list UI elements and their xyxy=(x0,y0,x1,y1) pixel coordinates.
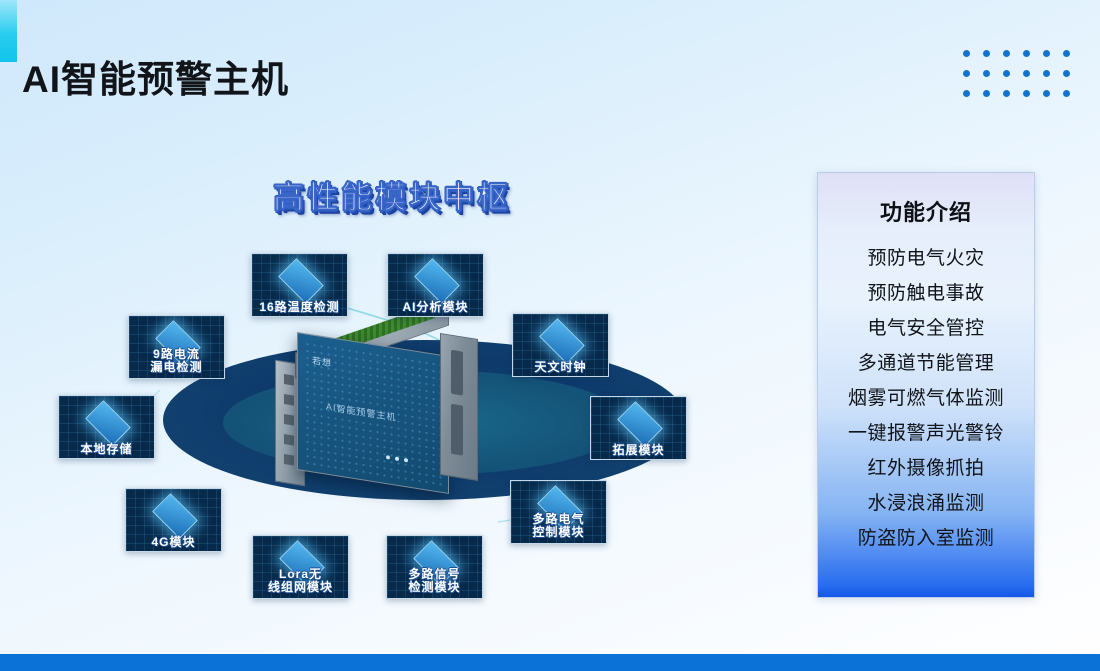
grid-dot xyxy=(963,90,970,97)
device-front-face: 若想 AI智能预警主机 xyxy=(297,332,449,494)
footer-bar xyxy=(0,654,1100,671)
module-caption-line: 控制模块 xyxy=(513,526,604,539)
grid-dot xyxy=(983,90,990,97)
module-caption: 天文时钟 xyxy=(513,361,608,374)
module-thumbnail[interactable]: 多路电气控制模块 xyxy=(510,480,607,544)
module-caption-line: 漏电检测 xyxy=(131,361,222,374)
feature-item[interactable]: 电气安全管控 xyxy=(818,311,1034,346)
slide-root: AI智能预警主机 高性能模块中枢 若想 AI智能预警主机 xyxy=(0,0,1100,671)
grid-dot xyxy=(1023,50,1030,57)
feature-item[interactable]: 防盗防入室监测 xyxy=(818,521,1034,556)
feature-item[interactable]: 一键报警声光警铃 xyxy=(818,416,1034,451)
grid-dot xyxy=(1043,90,1050,97)
module-caption-line: 天文时钟 xyxy=(515,361,606,374)
module-thumbnail[interactable]: 16路温度检测 xyxy=(251,253,348,317)
grid-dot xyxy=(1003,70,1010,77)
module-thumbnail[interactable]: 多路信号检测模块 xyxy=(386,535,483,599)
grid-dot xyxy=(1043,50,1050,57)
module-thumbnail[interactable]: AI分析模块 xyxy=(387,253,484,317)
feature-item[interactable]: 水浸浪涌监测 xyxy=(818,486,1034,521)
module-caption: Lora无线组网模块 xyxy=(253,568,348,594)
feature-list: 预防电气火灾预防触电事故电气安全管控多通道节能管理烟雾可燃气体监测一键报警声光警… xyxy=(818,241,1034,556)
feature-item[interactable]: 预防电气火灾 xyxy=(818,241,1034,276)
grid-dot xyxy=(963,50,970,57)
module-caption: 本地存储 xyxy=(59,443,154,456)
grid-dot xyxy=(1003,50,1010,57)
grid-dot xyxy=(983,70,990,77)
stage-heading: 高性能模块中枢 xyxy=(257,172,527,217)
accent-bar xyxy=(0,0,17,62)
module-caption: 16路温度检测 xyxy=(252,301,347,314)
module-caption: 拓展模块 xyxy=(591,444,686,457)
dot-grid-decoration xyxy=(963,50,1083,110)
page-title: AI智能预警主机 xyxy=(22,60,289,101)
feature-panel-title: 功能介绍 xyxy=(818,195,1034,227)
module-caption-line: 4G模块 xyxy=(128,536,219,549)
module-caption-line: 检测模块 xyxy=(389,581,480,594)
grid-dot xyxy=(1043,70,1050,77)
grid-dot xyxy=(1063,90,1070,97)
module-caption: 多路信号检测模块 xyxy=(387,568,482,594)
module-thumbnail[interactable]: 拓展模块 xyxy=(590,396,687,460)
device-model-label: AI智能预警主机 xyxy=(326,400,397,424)
module-thumbnail[interactable]: 本地存储 xyxy=(58,395,155,459)
feature-panel: 功能介绍 预防电气火灾预防触电事故电气安全管控多通道节能管理烟雾可燃气体监测一键… xyxy=(817,172,1035,598)
module-caption: 4G模块 xyxy=(126,536,221,549)
module-caption: 9路电流漏电检测 xyxy=(129,348,224,374)
central-device: 若想 AI智能预警主机 xyxy=(265,322,480,497)
diagram-stage: 高性能模块中枢 若想 AI智能预警主机 16路温度 xyxy=(20,150,760,620)
feature-item[interactable]: 多通道节能管理 xyxy=(818,346,1034,381)
module-thumbnail[interactable]: 4G模块 xyxy=(125,488,222,552)
module-caption: 多路电气控制模块 xyxy=(511,513,606,539)
grid-dot xyxy=(1063,70,1070,77)
module-caption-line: 拓展模块 xyxy=(593,444,684,457)
module-thumbnail[interactable]: 9路电流漏电检测 xyxy=(128,315,225,379)
feature-item[interactable]: 红外摄像抓拍 xyxy=(818,451,1034,486)
grid-dot xyxy=(963,70,970,77)
device-brand: 若想 xyxy=(312,353,332,369)
module-caption-line: 本地存储 xyxy=(61,443,152,456)
grid-dot xyxy=(1003,90,1010,97)
module-thumbnail[interactable]: Lora无线组网模块 xyxy=(252,535,349,599)
grid-dot xyxy=(983,50,990,57)
device-led-row xyxy=(386,455,408,462)
module-thumbnail[interactable]: 天文时钟 xyxy=(512,313,609,377)
grid-dot xyxy=(1023,70,1030,77)
feature-item[interactable]: 预防触电事故 xyxy=(818,276,1034,311)
grid-dot xyxy=(1063,50,1070,57)
module-caption-line: 线组网模块 xyxy=(255,581,346,594)
grid-dot xyxy=(1023,90,1030,97)
module-caption: AI分析模块 xyxy=(388,301,483,314)
module-caption-line: AI分析模块 xyxy=(390,301,481,314)
feature-item[interactable]: 烟雾可燃气体监测 xyxy=(818,381,1034,416)
module-caption-line: 16路温度检测 xyxy=(254,301,345,314)
device-right-side xyxy=(440,333,478,481)
